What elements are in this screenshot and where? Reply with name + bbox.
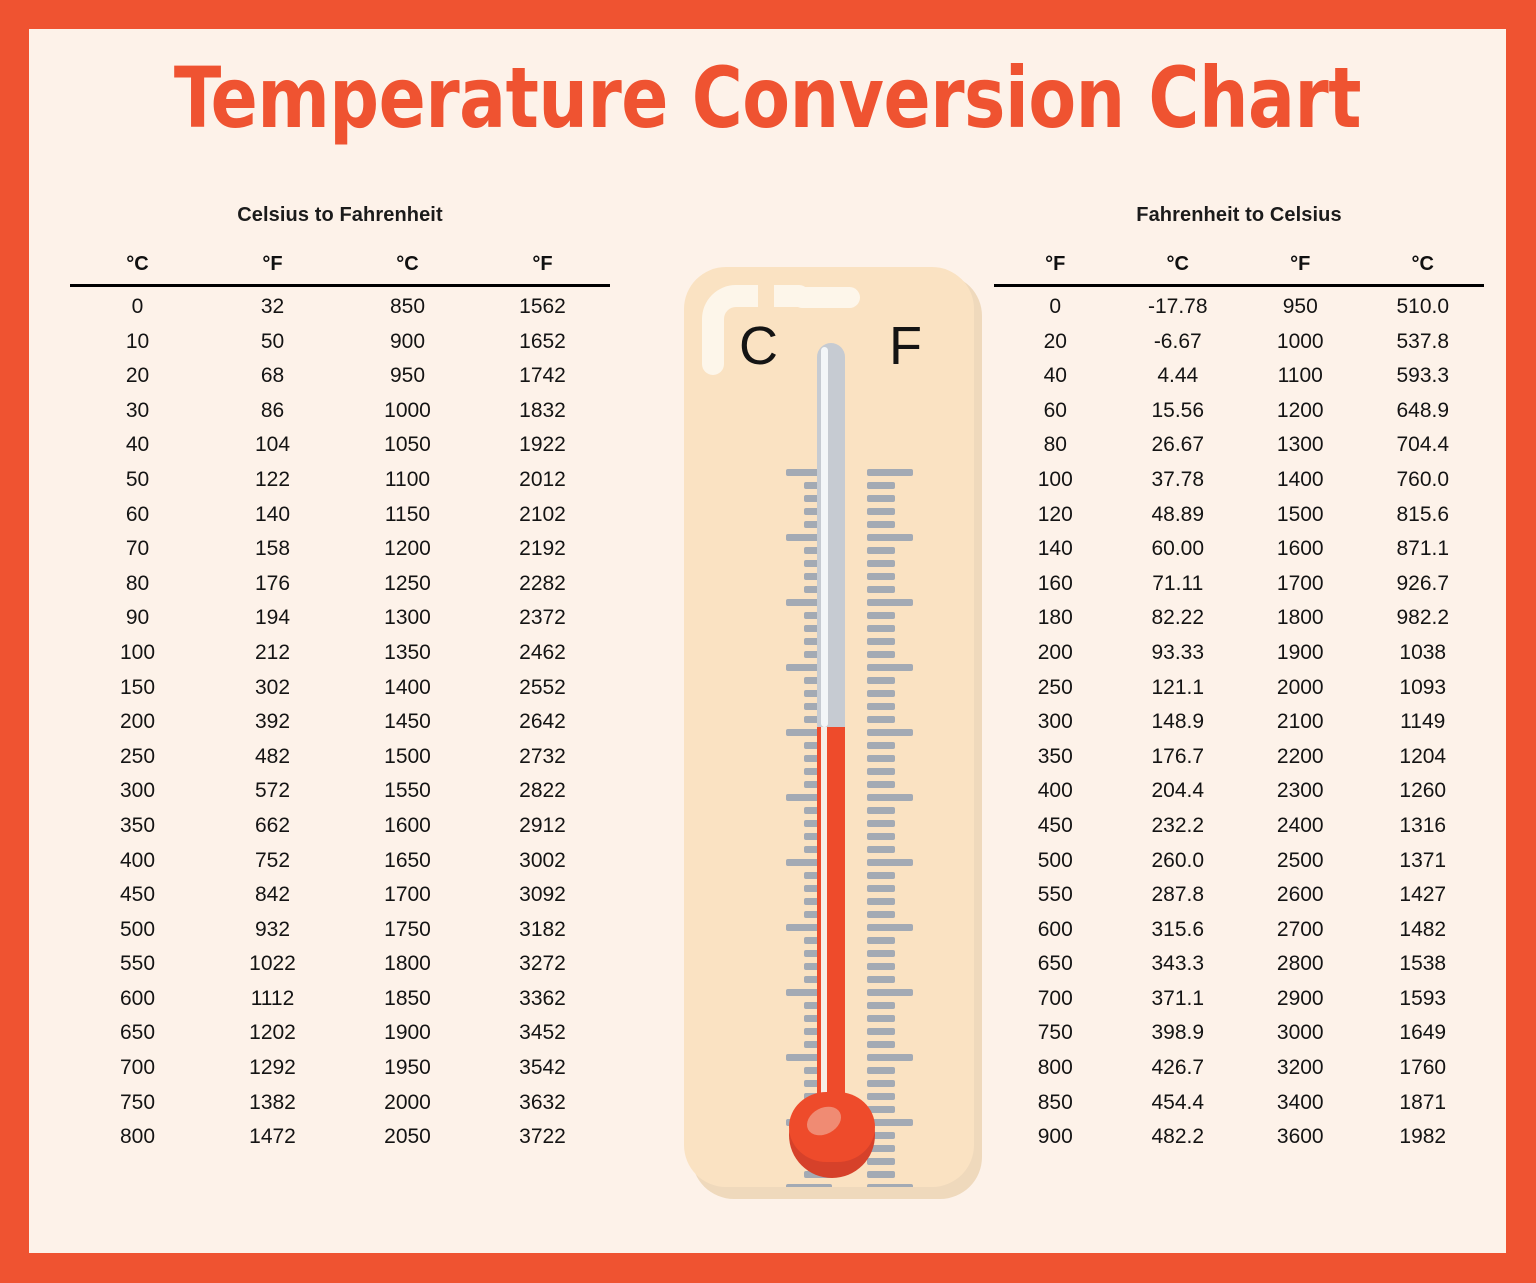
- table-row: 12048.891500815.6: [994, 498, 1484, 533]
- table-cell: 2372: [475, 601, 610, 636]
- table-row: 40075216503002: [70, 844, 610, 879]
- table-row: 20093.3319001038: [994, 636, 1484, 671]
- column-header: °C: [1117, 253, 1240, 286]
- table-cell: 1050: [340, 428, 475, 463]
- table-cell: 3000: [1239, 1016, 1362, 1051]
- table-cell: 120: [994, 498, 1117, 533]
- table-cell: 1150: [340, 498, 475, 533]
- table-cell: 121.1: [1117, 671, 1240, 706]
- table-cell: 300: [70, 774, 205, 809]
- table-cell: 1427: [1362, 878, 1485, 913]
- table-row: 600315.627001482: [994, 913, 1484, 948]
- table-row: 6015.561200648.9: [994, 394, 1484, 429]
- scale-minor-tick: [867, 781, 895, 788]
- table-row: 250121.120001093: [994, 671, 1484, 706]
- table-cell: 1038: [1362, 636, 1485, 671]
- table-cell: 3272: [475, 947, 610, 982]
- table-row: 14060.001600871.1: [994, 532, 1484, 567]
- scale-minor-tick: [867, 976, 895, 983]
- table-cell: 26.67: [1117, 428, 1240, 463]
- table-cell: 871.1: [1362, 532, 1485, 567]
- table-row: 800426.732001760: [994, 1051, 1484, 1086]
- scale-minor-tick: [867, 638, 895, 645]
- table-cell: 70: [70, 532, 205, 567]
- table-cell: 1550: [340, 774, 475, 809]
- table-cell: 204.4: [1117, 774, 1240, 809]
- table-cell: 2200: [1239, 740, 1362, 775]
- scale-minor-tick: [867, 911, 895, 918]
- table-cell: 200: [994, 636, 1117, 671]
- table-row: 400204.423001260: [994, 774, 1484, 809]
- table-cell: 194: [205, 601, 340, 636]
- table-cell: 392: [205, 705, 340, 740]
- table-row: 5012211002012: [70, 463, 610, 498]
- scale-minor-tick: [867, 573, 895, 580]
- table-cell: 650: [994, 947, 1117, 982]
- table-row: 35066216002912: [70, 809, 610, 844]
- scale-minor-tick: [867, 716, 895, 723]
- table-cell: 1650: [340, 844, 475, 879]
- scale-minor-tick: [867, 833, 895, 840]
- table-cell: 1000: [340, 394, 475, 429]
- table-cell: 2100: [1239, 705, 1362, 740]
- table-cell: 160: [994, 567, 1117, 602]
- poster-page: Temperature Conversion Chart Celsius to …: [0, 0, 1536, 1283]
- scale-minor-tick: [867, 495, 895, 502]
- table-cell: 572: [205, 774, 340, 809]
- column-header: °C: [1362, 253, 1485, 286]
- table-cell: 93.33: [1117, 636, 1240, 671]
- table-cell: 3200: [1239, 1051, 1362, 1086]
- table-cell: 80: [70, 567, 205, 602]
- table-cell: 850: [994, 1086, 1117, 1121]
- table-cell: 4.44: [1117, 359, 1240, 394]
- table-row: 550102218003272: [70, 947, 610, 982]
- fahrenheit-to-celsius-block: Fahrenheit to Celsius °F °C °F °C 0-17.7…: [994, 204, 1484, 1155]
- table-cell: 1350: [340, 636, 475, 671]
- table-row: 45084217003092: [70, 878, 610, 913]
- table-cell: 1300: [340, 601, 475, 636]
- table-row: 404.441100593.3: [994, 359, 1484, 394]
- table-cell: 1260: [1362, 774, 1485, 809]
- table-cell: 1742: [475, 359, 610, 394]
- table-cell: 1871: [1362, 1086, 1485, 1121]
- table-cell: 537.8: [1362, 325, 1485, 360]
- column-header: °F: [994, 253, 1117, 286]
- table-cell: 1700: [340, 878, 475, 913]
- table-row: 10037.781400760.0: [994, 463, 1484, 498]
- table-row: 15030214002552: [70, 671, 610, 706]
- table-cell: 60: [70, 498, 205, 533]
- table-row: 10509001652: [70, 325, 610, 360]
- table-cell: 1000: [1239, 325, 1362, 360]
- scale-minor-tick: [867, 1002, 895, 1009]
- table-cell: 3632: [475, 1086, 610, 1121]
- table-cell: 1382: [205, 1086, 340, 1121]
- table-row: 900482.236001982: [994, 1120, 1484, 1155]
- table-cell: 1022: [205, 947, 340, 982]
- table-cell: 122: [205, 463, 340, 498]
- table-row: 750138220003632: [70, 1086, 610, 1121]
- table-cell: 2552: [475, 671, 610, 706]
- table-row: 700371.129001593: [994, 982, 1484, 1017]
- table-cell: 950: [340, 359, 475, 394]
- column-header: °F: [1239, 253, 1362, 286]
- table-cell: 926.7: [1362, 567, 1485, 602]
- table-cell: 1250: [340, 567, 475, 602]
- table-cell: 982.2: [1362, 601, 1485, 636]
- scale-major-tick: [867, 924, 913, 931]
- table-cell: 482.2: [1117, 1120, 1240, 1155]
- scale-minor-tick: [867, 807, 895, 814]
- fahrenheit-scale-letter: F: [889, 319, 922, 373]
- table-cell: 176.7: [1117, 740, 1240, 775]
- table-cell: 350: [70, 809, 205, 844]
- scale-minor-tick: [867, 586, 895, 593]
- table-cell: 3362: [475, 982, 610, 1017]
- table-cell: 815.6: [1362, 498, 1485, 533]
- table-cell: 3452: [475, 1016, 610, 1051]
- table-row: 500260.025001371: [994, 844, 1484, 879]
- table-cell: 343.3: [1117, 947, 1240, 982]
- table-caption-celsius-to-fahrenheit: Celsius to Fahrenheit: [70, 204, 610, 227]
- scale-major-tick: [867, 664, 913, 671]
- table-cell: 148.9: [1117, 705, 1240, 740]
- table-cell: 3542: [475, 1051, 610, 1086]
- table-cell: 30: [70, 394, 205, 429]
- scale-minor-tick: [867, 1158, 895, 1165]
- table-cell: 1600: [340, 809, 475, 844]
- table-cell: 398.9: [1117, 1016, 1240, 1051]
- table-cell: 3092: [475, 878, 610, 913]
- table-cell: 1200: [1239, 394, 1362, 429]
- table-cell: 1316: [1362, 809, 1485, 844]
- scale-major-tick: [786, 1184, 832, 1188]
- thermometer-illustration: C F 50403020100−10−20−30−40−50−60 160140…: [654, 234, 984, 1199]
- table-cell: 3002: [475, 844, 610, 879]
- table-cell: 1850: [340, 982, 475, 1017]
- table-cell: 90: [70, 601, 205, 636]
- table-cell: 760.0: [1362, 463, 1485, 498]
- table-cell: 140: [994, 532, 1117, 567]
- table-cell: 1700: [1239, 567, 1362, 602]
- table-cell: 1100: [1239, 359, 1362, 394]
- table-cell: 426.7: [1117, 1051, 1240, 1086]
- scale-minor-tick: [867, 872, 895, 879]
- scale-minor-tick: [867, 508, 895, 515]
- table-cell: 2900: [1239, 982, 1362, 1017]
- table-cell: 1760: [1362, 1051, 1485, 1086]
- table-cell: 950: [1239, 286, 1362, 325]
- table-row: 10021213502462: [70, 636, 610, 671]
- table-cell: 842: [205, 878, 340, 913]
- scale-minor-tick: [867, 1171, 895, 1178]
- scale-minor-tick: [867, 560, 895, 567]
- scale-major-tick: [867, 729, 913, 736]
- table-cell: 600: [70, 982, 205, 1017]
- table-cell: 1400: [340, 671, 475, 706]
- celsius-scale-letter: C: [739, 319, 778, 373]
- table-cell: 158: [205, 532, 340, 567]
- scale-major-tick: [867, 599, 913, 606]
- scale-minor-tick: [867, 625, 895, 632]
- fahrenheit-to-celsius-table: °F °C °F °C 0-17.78950510.020-6.67100053…: [994, 253, 1484, 1155]
- scale-minor-tick: [867, 1015, 895, 1022]
- table-cell: 0: [994, 286, 1117, 325]
- table-row: 20689501742: [70, 359, 610, 394]
- table-cell: 850: [340, 286, 475, 325]
- table-cell: 550: [70, 947, 205, 982]
- table-cell: 2462: [475, 636, 610, 671]
- table-cell: 1832: [475, 394, 610, 429]
- table-cell: 1538: [1362, 947, 1485, 982]
- table-row: 600111218503362: [70, 982, 610, 1017]
- table-header-row: °F °C °F °C: [994, 253, 1484, 286]
- celsius-to-fahrenheit-table: °C °F °C °F 0328501562105090016522068950…: [70, 253, 610, 1155]
- table-cell: 648.9: [1362, 394, 1485, 429]
- scale-major-tick: [867, 1054, 913, 1061]
- table-cell: 800: [70, 1120, 205, 1155]
- table-cell: 2732: [475, 740, 610, 775]
- table-row: 20039214502642: [70, 705, 610, 740]
- table-cell: 1900: [340, 1016, 475, 1051]
- table-cell: 40: [70, 428, 205, 463]
- table-cell: 1400: [1239, 463, 1362, 498]
- table-cell: 1450: [340, 705, 475, 740]
- table-row: 16071.111700926.7: [994, 567, 1484, 602]
- table-cell: 900: [994, 1120, 1117, 1155]
- table-cell: 2012: [475, 463, 610, 498]
- scale-major-tick: [867, 859, 913, 866]
- scale-minor-tick: [867, 1028, 895, 1035]
- scale-minor-tick: [867, 742, 895, 749]
- table-cell: 2822: [475, 774, 610, 809]
- table-row: 8026.671300704.4: [994, 428, 1484, 463]
- table-cell: 400: [70, 844, 205, 879]
- table-cell: 450: [994, 809, 1117, 844]
- table-row: 650120219003452: [70, 1016, 610, 1051]
- glass-tube-highlight: [821, 347, 828, 727]
- table-row: 750398.930001649: [994, 1016, 1484, 1051]
- table-row: 550287.826001427: [994, 878, 1484, 913]
- table-cell: 700: [994, 982, 1117, 1017]
- table-cell: 371.1: [1117, 982, 1240, 1017]
- table-cell: 800: [994, 1051, 1117, 1086]
- table-row: 25048215002732: [70, 740, 610, 775]
- table-cell: 510.0: [1362, 286, 1485, 325]
- table-cell: 3722: [475, 1120, 610, 1155]
- scale-minor-tick: [867, 1093, 895, 1100]
- table-caption-fahrenheit-to-celsius: Fahrenheit to Celsius: [994, 204, 1484, 227]
- table-cell: 704.4: [1362, 428, 1485, 463]
- table-cell: 2642: [475, 705, 610, 740]
- table-cell: 2912: [475, 809, 610, 844]
- table-cell: 2800: [1239, 947, 1362, 982]
- table-cell: 750: [994, 1016, 1117, 1051]
- table-cell: 932: [205, 913, 340, 948]
- table-cell: 1800: [1239, 601, 1362, 636]
- table-cell: 68: [205, 359, 340, 394]
- table-cell: 100: [994, 463, 1117, 498]
- scale-minor-tick: [867, 651, 895, 658]
- table-row: 350176.722001204: [994, 740, 1484, 775]
- table-cell: 100: [70, 636, 205, 671]
- table-row: 18082.221800982.2: [994, 601, 1484, 636]
- table-cell: 2000: [340, 1086, 475, 1121]
- table-cell: 1900: [1239, 636, 1362, 671]
- table-cell: 900: [340, 325, 475, 360]
- table-cell: 10: [70, 325, 205, 360]
- table-row: 850454.434001871: [994, 1086, 1484, 1121]
- table-cell: 315.6: [1117, 913, 1240, 948]
- scale-minor-tick: [867, 950, 895, 957]
- table-row: 50093217503182: [70, 913, 610, 948]
- table-cell: 1500: [340, 740, 475, 775]
- table-cell: 15.56: [1117, 394, 1240, 429]
- table-row: 30057215502822: [70, 774, 610, 809]
- table-header-row: °C °F °C °F: [70, 253, 610, 286]
- table-cell: 50: [70, 463, 205, 498]
- table-cell: 180: [994, 601, 1117, 636]
- table-cell: 1982: [1362, 1120, 1485, 1155]
- table-cell: 600: [994, 913, 1117, 948]
- table-cell: 140: [205, 498, 340, 533]
- table-cell: 1500: [1239, 498, 1362, 533]
- table-cell: 1652: [475, 325, 610, 360]
- table-cell: 1149: [1362, 705, 1485, 740]
- table-cell: 50: [205, 325, 340, 360]
- table-cell: 200: [70, 705, 205, 740]
- table-cell: 2400: [1239, 809, 1362, 844]
- table-cell: 1922: [475, 428, 610, 463]
- table-row: 0-17.78950510.0: [994, 286, 1484, 325]
- left-table-body: 0328501562105090016522068950174230861000…: [70, 286, 610, 1155]
- table-cell: 60: [994, 394, 1117, 429]
- scale-minor-tick: [867, 846, 895, 853]
- table-row: 800147220503722: [70, 1120, 610, 1155]
- scale-minor-tick: [867, 937, 895, 944]
- table-cell: 176: [205, 567, 340, 602]
- scale-major-tick: [867, 989, 913, 996]
- table-cell: 150: [70, 671, 205, 706]
- table-cell: 0: [70, 286, 205, 325]
- table-cell: 287.8: [1117, 878, 1240, 913]
- table-cell: 500: [994, 844, 1117, 879]
- table-row: 300148.921001149: [994, 705, 1484, 740]
- table-cell: 3400: [1239, 1086, 1362, 1121]
- column-header: °F: [475, 253, 610, 286]
- table-cell: 3600: [1239, 1120, 1362, 1155]
- scale-minor-tick: [867, 677, 895, 684]
- celsius-to-fahrenheit-block: Celsius to Fahrenheit °C °F °C °F 032850…: [70, 204, 610, 1155]
- table-row: 700129219503542: [70, 1051, 610, 1086]
- table-cell: 1593: [1362, 982, 1485, 1017]
- table-cell: 593.3: [1362, 359, 1485, 394]
- mercury-highlight: [821, 727, 827, 1135]
- table-cell: -17.78: [1117, 286, 1240, 325]
- table-cell: 1649: [1362, 1016, 1485, 1051]
- scale-minor-tick: [867, 703, 895, 710]
- column-header: °C: [340, 253, 475, 286]
- table-cell: 2050: [340, 1120, 475, 1155]
- table-cell: 86: [205, 394, 340, 429]
- table-cell: 232.2: [1117, 809, 1240, 844]
- scale-major-tick: [867, 1184, 913, 1188]
- table-cell: 1562: [475, 286, 610, 325]
- table-cell: 2700: [1239, 913, 1362, 948]
- table-cell: 1112: [205, 982, 340, 1017]
- table-cell: 20: [70, 359, 205, 394]
- table-cell: 2500: [1239, 844, 1362, 879]
- table-cell: 450: [70, 878, 205, 913]
- scale-minor-tick: [867, 963, 895, 970]
- scale-minor-tick: [867, 1041, 895, 1048]
- table-row: 308610001832: [70, 394, 610, 429]
- scale-minor-tick: [867, 820, 895, 827]
- scale-major-tick: [867, 794, 913, 801]
- table-cell: 60.00: [1117, 532, 1240, 567]
- table-cell: 82.22: [1117, 601, 1240, 636]
- table-cell: 3182: [475, 913, 610, 948]
- table-cell: 71.11: [1117, 567, 1240, 602]
- table-cell: 300: [994, 705, 1117, 740]
- table-row: 9019413002372: [70, 601, 610, 636]
- table-cell: 250: [994, 671, 1117, 706]
- table-cell: 2102: [475, 498, 610, 533]
- table-row: 20-6.671000537.8: [994, 325, 1484, 360]
- scale-minor-tick: [867, 1067, 895, 1074]
- table-cell: 2300: [1239, 774, 1362, 809]
- table-cell: 80: [994, 428, 1117, 463]
- table-cell: 1292: [205, 1051, 340, 1086]
- page-title: Temperature Conversion Chart: [88, 56, 1447, 140]
- scale-major-tick: [867, 534, 913, 541]
- table-cell: 40: [994, 359, 1117, 394]
- table-cell: 752: [205, 844, 340, 879]
- scale-minor-tick: [867, 612, 895, 619]
- table-cell: 48.89: [1117, 498, 1240, 533]
- table-cell: 37.78: [1117, 463, 1240, 498]
- scale-minor-tick: [867, 547, 895, 554]
- table-row: 4010410501922: [70, 428, 610, 463]
- table-cell: 350: [994, 740, 1117, 775]
- table-cell: 2192: [475, 532, 610, 567]
- table-cell: 2000: [1239, 671, 1362, 706]
- table-cell: 1750: [340, 913, 475, 948]
- scale-minor-tick: [867, 482, 895, 489]
- table-cell: 1100: [340, 463, 475, 498]
- table-cell: 212: [205, 636, 340, 671]
- table-row: 0328501562: [70, 286, 610, 325]
- right-table-body: 0-17.78950510.020-6.671000537.8404.44110…: [994, 286, 1484, 1155]
- table-cell: 2600: [1239, 878, 1362, 913]
- table-cell: 1950: [340, 1051, 475, 1086]
- table-cell: 1800: [340, 947, 475, 982]
- scale-minor-tick: [867, 690, 895, 697]
- scale-minor-tick: [867, 521, 895, 528]
- gloss-dot-icon: [792, 287, 860, 308]
- table-cell: 662: [205, 809, 340, 844]
- table-cell: 104: [205, 428, 340, 463]
- table-cell: 1472: [205, 1120, 340, 1155]
- table-cell: 400: [994, 774, 1117, 809]
- table-cell: 250: [70, 740, 205, 775]
- table-cell: 32: [205, 286, 340, 325]
- table-cell: 1093: [1362, 671, 1485, 706]
- scale-minor-tick: [867, 768, 895, 775]
- table-cell: 1600: [1239, 532, 1362, 567]
- table-cell: 1482: [1362, 913, 1485, 948]
